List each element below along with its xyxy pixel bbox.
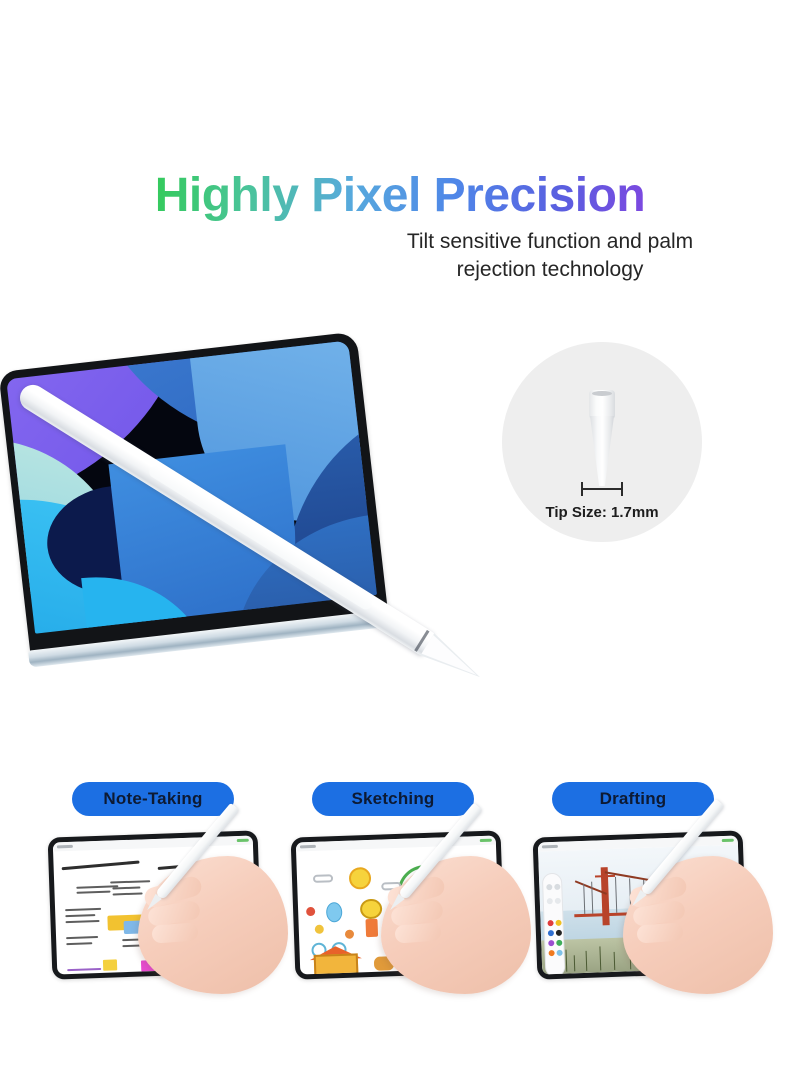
toolbar-left-icon [300, 845, 316, 849]
stylus-tip-inner [422, 635, 483, 684]
tip-size-label: Tip Size: 1.7mm [502, 504, 702, 521]
use-case-thumbnail-row [0, 828, 800, 988]
note-line [66, 942, 92, 945]
cloud-doodle [313, 874, 333, 883]
nib-collar [589, 390, 615, 418]
note-line [65, 908, 101, 911]
sticky-note [103, 959, 117, 970]
sun-doodle [349, 867, 372, 890]
nib-cone [590, 416, 614, 486]
note-line [66, 920, 100, 923]
color-swatch-purple[interactable] [548, 940, 554, 946]
subtitle-line-1: Tilt sensitive function and palm [330, 228, 770, 256]
hero-image: Tip Size: 1.7mm [0, 330, 800, 710]
finger [636, 922, 683, 943]
note-line [113, 892, 143, 895]
page-subtitle: Tilt sensitive function and palm rejecti… [330, 228, 770, 284]
toolbar-right-icon [237, 839, 249, 842]
color-swatch-black[interactable] [556, 930, 562, 936]
bracket-cap-right [621, 482, 623, 496]
page-title: Highly Pixel Precision [0, 168, 800, 223]
note-line [112, 887, 140, 890]
note-line [110, 880, 150, 883]
thumbnail-drafting [527, 828, 759, 980]
tool-pen[interactable] [546, 884, 552, 890]
toolbar-left-icon [57, 845, 73, 849]
color-swatch-lightblue[interactable] [557, 950, 563, 956]
color-swatch-green[interactable] [556, 940, 562, 946]
balloon-doodle [326, 902, 343, 923]
finger [394, 922, 441, 943]
note-line [66, 936, 98, 939]
toolbar-right-icon [722, 839, 734, 842]
tip-size-callout: Tip Size: 1.7mm [502, 342, 702, 542]
thumbnail-sketching [285, 828, 517, 980]
note-line-purple [67, 968, 101, 971]
thumbnail-note-taking [42, 828, 274, 980]
subtitle-line-2: rejection technology [330, 256, 770, 284]
note-line [65, 914, 95, 917]
badge-drafting[interactable]: Drafting [552, 782, 714, 816]
color-swatch-red[interactable] [547, 920, 553, 926]
flower-doodle [306, 907, 315, 916]
child-body-doodle [365, 919, 378, 937]
color-palette-toolbar[interactable] [542, 873, 566, 975]
flower-doodle [345, 930, 354, 939]
bracket-bar [581, 488, 623, 490]
product-feature-page: Highly Pixel Precision Tilt sensitive fu… [0, 0, 800, 1091]
flower-doodle [315, 925, 324, 934]
badge-sketching[interactable]: Sketching [312, 782, 474, 816]
toolbar-left-icon [542, 845, 558, 849]
house-doodle [314, 953, 359, 974]
note-line [76, 891, 110, 894]
handwritten-title [62, 860, 140, 870]
badge-note-taking[interactable]: Note-Taking [72, 782, 234, 816]
finger [151, 922, 198, 943]
tool-eraser[interactable] [554, 884, 560, 890]
toolbar-right-icon [480, 839, 492, 842]
tool-marker[interactable] [555, 898, 561, 904]
feature-badge-row: Note-Taking Sketching Drafting [0, 782, 800, 816]
child-head-doodle [360, 899, 383, 920]
tool-brush[interactable] [547, 898, 553, 904]
color-swatch-yellow[interactable] [555, 920, 561, 926]
measurement-bracket-icon [581, 482, 623, 496]
color-swatch-blue[interactable] [548, 930, 554, 936]
color-swatch-orange[interactable] [549, 950, 555, 956]
